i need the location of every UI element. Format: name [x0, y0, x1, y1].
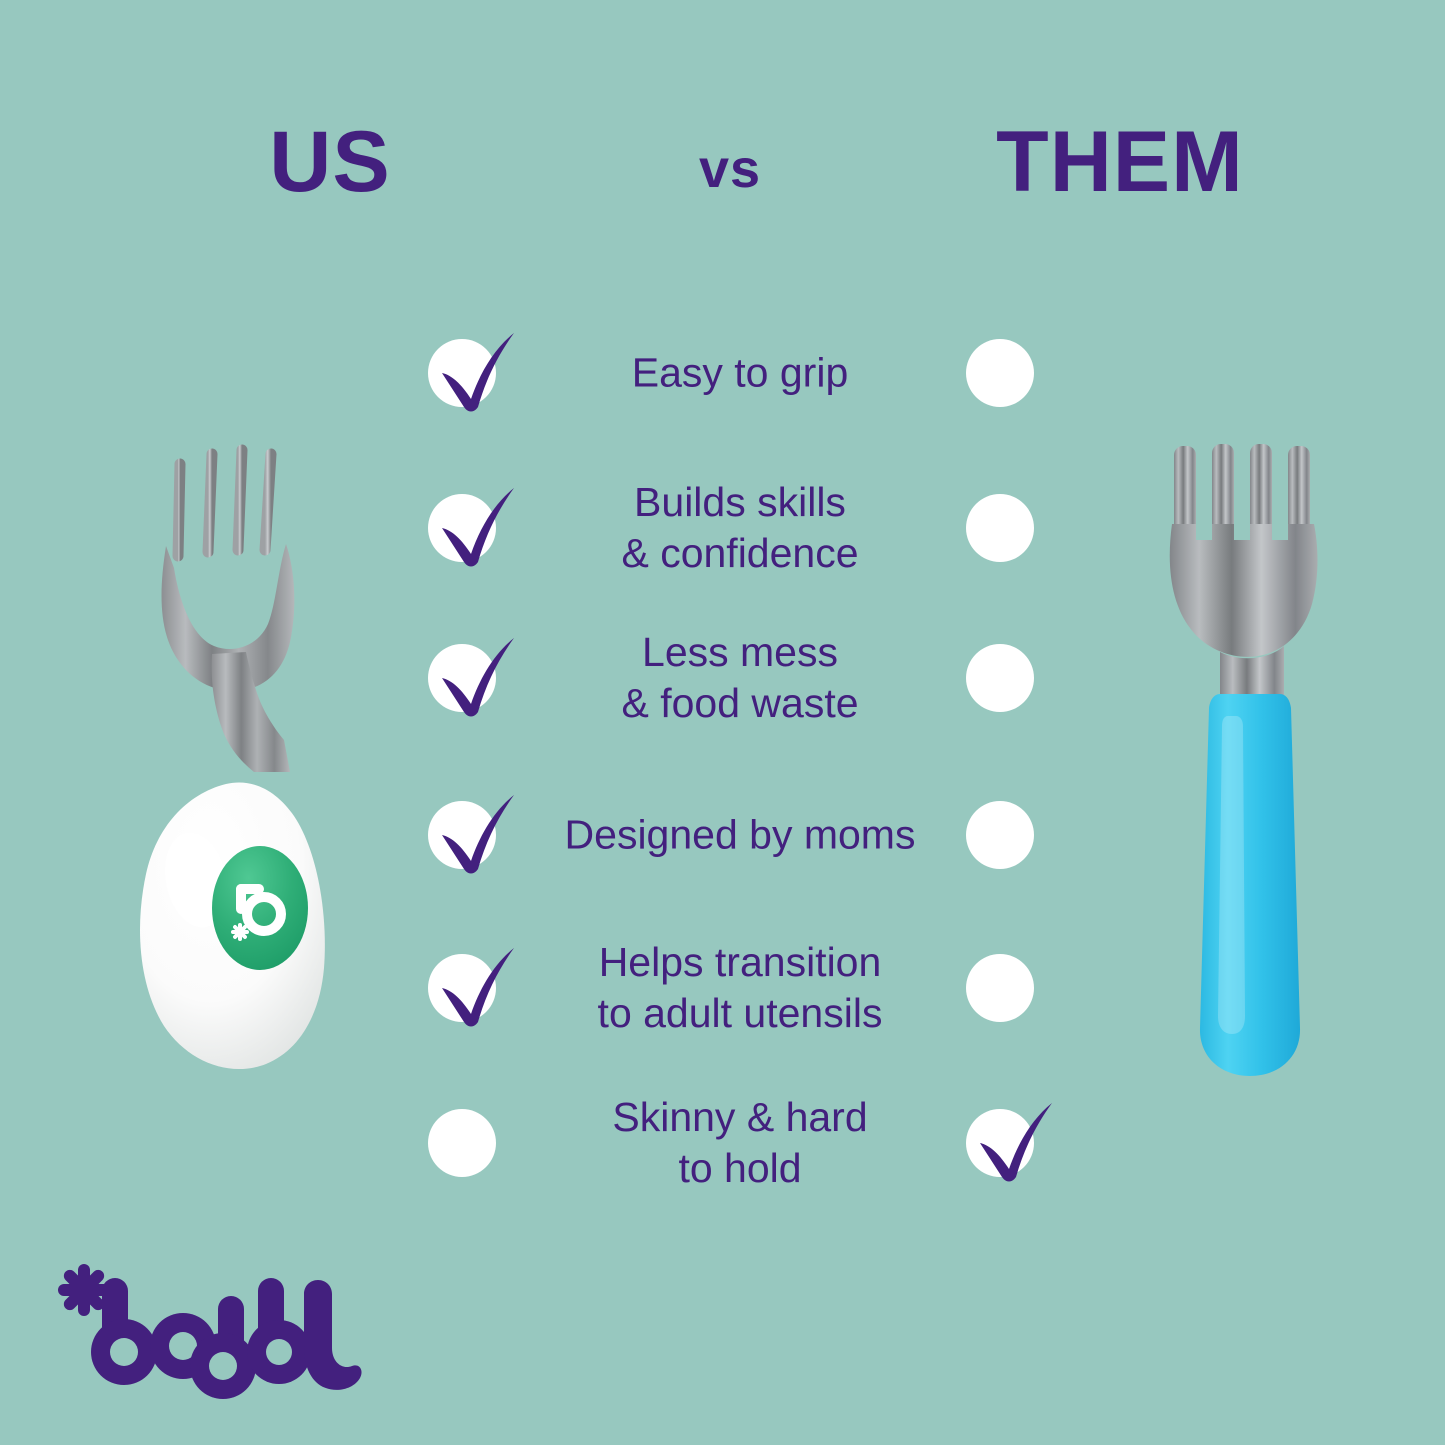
row-label-line: Easy to grip: [632, 350, 849, 396]
row-label-line: Skinny & hardto hold: [612, 1094, 867, 1191]
brand-logo[interactable]: [46, 1256, 366, 1416]
check-icon: [964, 1093, 1060, 1189]
logo-letter-l: [304, 1280, 362, 1390]
check-icon: [426, 478, 522, 574]
us-check-row-1[interactable]: [428, 339, 496, 407]
row-label-line: Designed by moms: [565, 812, 916, 858]
them-mark-row-5[interactable]: [966, 954, 1034, 1022]
row-label: Designed by moms: [520, 810, 960, 861]
them-check-row-6[interactable]: [966, 1109, 1034, 1177]
check-icon: [426, 785, 522, 881]
empty-circle-icon: [428, 1109, 496, 1177]
row-label-line: Less mess& food waste: [621, 629, 858, 726]
check-icon: [426, 323, 522, 419]
comparison-infographic: US vs THEM: [0, 0, 1445, 1445]
empty-circle-icon: [966, 494, 1034, 562]
us-check-row-2[interactable]: [428, 494, 496, 562]
us-mark-row-6[interactable]: [428, 1109, 496, 1177]
empty-circle-icon: [966, 954, 1034, 1022]
them-mark-row-2[interactable]: [966, 494, 1034, 562]
check-icon: [426, 628, 522, 724]
row-label-line: Helps transitionto adult utensils: [598, 939, 883, 1036]
them-mark-row-3[interactable]: [966, 644, 1034, 712]
us-check-row-5[interactable]: [428, 954, 496, 1022]
comparison-table: Easy to grip Builds skills& confidence: [0, 0, 1445, 1445]
row-label: Skinny & hardto hold: [520, 1092, 960, 1194]
logo-letter-d-2: [190, 1296, 256, 1399]
us-check-row-3[interactable]: [428, 644, 496, 712]
empty-circle-icon: [966, 644, 1034, 712]
them-mark-row-1[interactable]: [966, 339, 1034, 407]
logo-letter-d-3: [247, 1278, 311, 1384]
row-label: Helps transitionto adult utensils: [520, 937, 960, 1039]
empty-circle-icon: [966, 339, 1034, 407]
us-check-row-4[interactable]: [428, 801, 496, 869]
empty-circle-icon: [966, 801, 1034, 869]
row-label-line: Builds skills& confidence: [621, 479, 858, 576]
check-icon: [426, 938, 522, 1034]
row-label: Easy to grip: [520, 348, 960, 399]
row-label: Builds skills& confidence: [520, 477, 960, 579]
them-mark-row-4[interactable]: [966, 801, 1034, 869]
row-label: Less mess& food waste: [520, 627, 960, 729]
